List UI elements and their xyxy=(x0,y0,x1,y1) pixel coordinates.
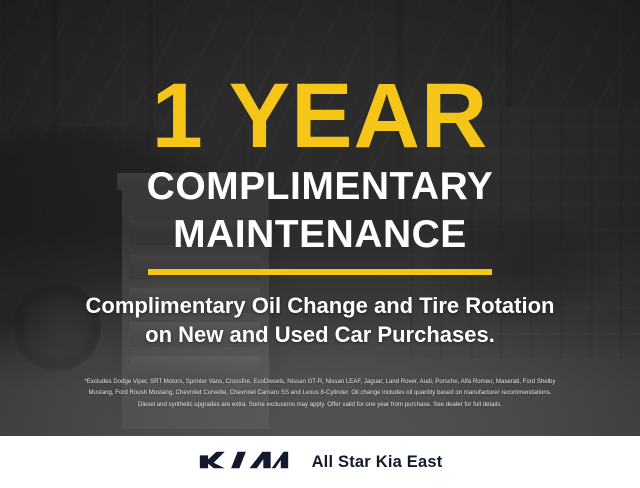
banner-content: 1 YEAR COMPLIMENTARY MAINTENANCE Complim… xyxy=(0,0,640,488)
subhead-maintenance: MAINTENANCE xyxy=(173,215,467,256)
offer-line-1: Complimentary Oil Change and Tire Rotati… xyxy=(86,291,555,320)
disclaimer-line-1: *Excludes Dodge Viper, SRT Motors, Sprin… xyxy=(12,376,628,387)
subhead-complimentary: COMPLIMENTARY xyxy=(147,167,494,208)
offer-text: Complimentary Oil Change and Tire Rotati… xyxy=(86,291,555,349)
disclaimer-line-3: Diesel and synthetic upgrades are extra.… xyxy=(12,399,628,410)
dealer-name: All Star Kia East xyxy=(312,453,443,472)
disclaimer-line-2: Mustang, Ford Roush Mustang, Chevrolet C… xyxy=(12,387,628,398)
headline-year: 1 YEAR xyxy=(152,74,489,159)
kia-logo xyxy=(198,447,290,478)
promotional-banner: 1 YEAR COMPLIMENTARY MAINTENANCE Complim… xyxy=(0,0,640,488)
yellow-divider-bar xyxy=(148,269,492,275)
brand-footer: All Star Kia East xyxy=(0,436,640,488)
disclaimer-text: *Excludes Dodge Viper, SRT Motors, Sprin… xyxy=(0,376,640,410)
offer-line-2: on New and Used Car Purchases. xyxy=(86,320,555,349)
